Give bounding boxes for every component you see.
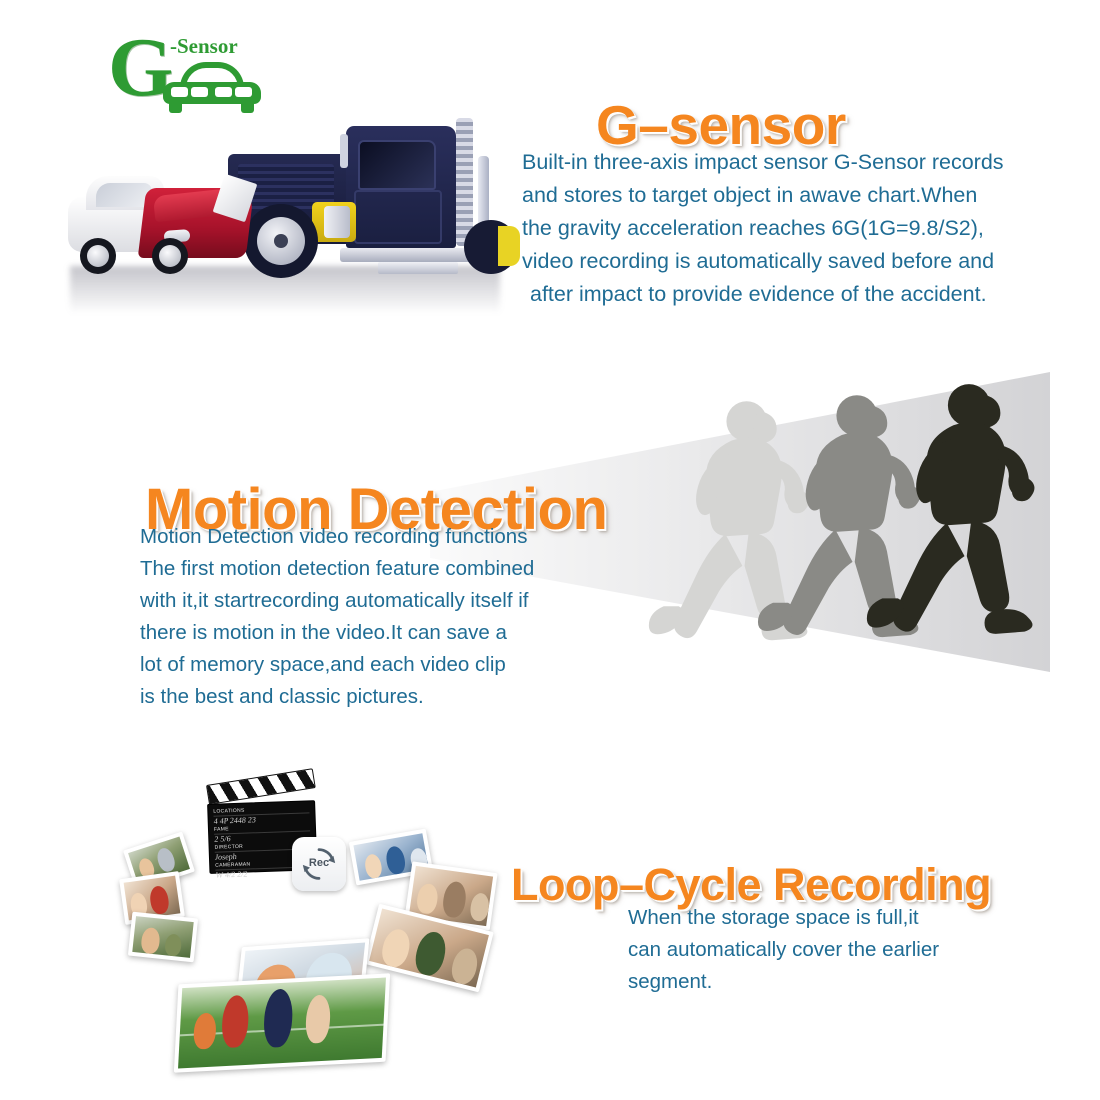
loop-body-line: When the storage space is full,it [628,902,939,934]
loop-body-line: segment. [628,966,939,998]
runner-silhouette-solid [838,378,1060,650]
motion-body-line: is the best and classic pictures. [140,681,534,713]
motion-body-line: with it,it startrecording automatically … [140,585,534,617]
car-lamp [215,87,232,97]
rec-button[interactable]: Rec [292,837,346,891]
car-crash-illustration [60,104,530,314]
truck-exhaust-stack [456,118,473,246]
gsensor-artwork: G -Sensor [60,18,530,314]
truck-step [378,262,458,274]
loop-body-line: can automatically cover the earlier [628,934,939,966]
sedan-wheel-rim [87,245,109,267]
motion-body-line: there is motion in the video.It can save… [140,617,534,649]
sedan-wheel-rim [159,245,181,267]
truck-door [354,190,442,244]
truck-fuel-tank-chrome [324,206,350,238]
truck-window [358,140,436,190]
gsensor-body-line: and stores to target object in awave cha… [522,179,1022,212]
truck-mudflap [498,226,520,266]
gsensor-body-line: Built-in three-axis impact sensor G-Sens… [522,146,1022,179]
clapper-sticks [206,768,316,805]
rec-button-label: Rec [292,857,346,869]
truck-rear-wheel [464,220,518,274]
semi-truck [228,110,528,280]
sedan-wheel [152,238,188,274]
collage-photo [128,912,198,963]
motion-body-line: Motion Detection video recording functio… [140,521,534,553]
sedan-wheel [80,238,116,274]
collage-photo [174,973,390,1072]
motion-body: Motion Detection video recording functio… [140,521,534,713]
car-lamp [171,87,188,97]
loop-artwork: LOCATIONS 4 4P 2448 23 FAME 2 5/6 DIRECT… [120,775,510,1070]
loop-body: When the storage space is full,it can au… [628,902,939,998]
motion-body-line: lot of memory space,and each video clip [140,649,534,681]
motion-body-line: The first motion detection feature combi… [140,553,534,585]
feature-page: G -Sensor [0,0,1100,1100]
gsensor-body-line: the gravity acceleration reaches 6G(1G=9… [522,212,1022,245]
crashed-sedan [68,174,258,284]
truck-mirror [340,134,348,168]
gsensor-body-line: after impact to provide evidence of the … [522,278,1022,311]
car-lamp [191,87,208,97]
truck-wheel-hub [274,234,288,248]
gsensor-body: Built-in three-axis impact sensor G-Sens… [522,146,1022,311]
logo-sensor-word: -Sensor [170,36,238,57]
photo-content [178,977,386,1068]
photo-content [132,916,193,958]
gsensor-body-line: video recording is automatically saved b… [522,245,1022,278]
car-lamp [235,87,252,97]
